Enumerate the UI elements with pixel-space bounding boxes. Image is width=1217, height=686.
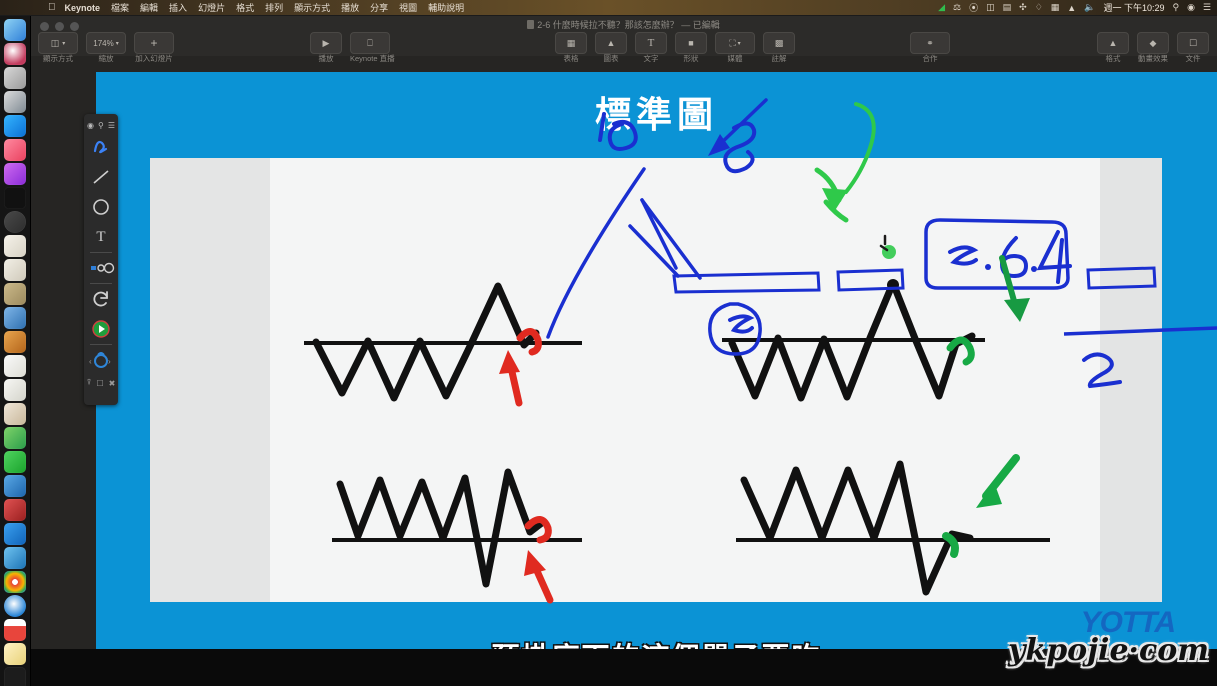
apple-icon[interactable]: : [48, 3, 56, 13]
insert-chart-button[interactable]: ▲: [595, 32, 627, 54]
siri-icon[interactable]: ◉: [1187, 2, 1195, 13]
ink-right-line: [1064, 328, 1217, 334]
screenshot-icon[interactable]: ☐: [96, 379, 103, 388]
ink-green-arrow-top: [817, 104, 896, 259]
bluetooth-icon[interactable]: ✣: [1019, 2, 1027, 13]
ink-number-2: [1084, 354, 1120, 386]
format-brush-icon: ▲: [1109, 38, 1118, 48]
dock-item-finder[interactable]: [4, 19, 26, 41]
dock-item-grid-app[interactable]: [4, 283, 26, 305]
battery-meter-icon[interactable]: ◫: [986, 2, 995, 13]
pointer-icon[interactable]: ⚲: [98, 121, 104, 130]
play-button[interactable]: ▶: [310, 32, 342, 54]
plus-icon: +: [150, 36, 157, 50]
dock-item-appstore[interactable]: [4, 115, 26, 137]
chevron-down-icon: ▾: [62, 40, 65, 47]
ink-annotation-layer: [96, 72, 1217, 686]
insert-comment-button[interactable]: ▩: [763, 32, 795, 54]
insert-media-button[interactable]: ⛶▾: [715, 32, 755, 54]
menu-app-name[interactable]: Keynote: [65, 3, 101, 13]
text-icon: T: [648, 37, 655, 49]
collaborate-icon: ⚭: [926, 38, 934, 49]
comment-icon: ▩: [775, 38, 784, 49]
dock-item-windows-app[interactable]: [4, 523, 26, 545]
svg-text:›: ›: [108, 357, 111, 366]
format-button-wrap: ▲ 格式: [1097, 32, 1129, 54]
dock-item-terminal[interactable]: [4, 667, 26, 686]
eject-icon[interactable]: ▲: [1067, 3, 1076, 13]
keynote-live-button-label: Keynote 直播: [350, 53, 390, 64]
toolbar-play-group: ▶ 播放 ⎕ Keynote 直播: [310, 32, 390, 54]
line-tool[interactable]: [84, 162, 118, 192]
menu-icon[interactable]: ☰: [108, 121, 115, 130]
collaborate-button-wrap: ⚭ 合作: [910, 32, 950, 54]
insert-media-label: 媒體: [715, 53, 755, 64]
menu-item-format[interactable]: 格式: [236, 1, 254, 14]
zoom-level-value: 174%: [93, 39, 113, 48]
view-button-label: 顯示方式: [38, 53, 78, 64]
collaborate-label: 合作: [910, 53, 950, 64]
refresh-icon: [91, 289, 111, 309]
dock-item-numbers[interactable]: [4, 427, 26, 449]
menu-item-edit[interactable]: 編輯: [140, 1, 158, 14]
insert-chart-label: 圖表: [595, 53, 627, 64]
insert-comment-button-wrap: ▩ 註解: [763, 32, 795, 54]
dock-item-screen-app-1[interactable]: [4, 475, 26, 497]
pen-tool[interactable]: [84, 132, 118, 162]
document-icon: [527, 20, 534, 29]
animate-icon: ◆: [1150, 38, 1157, 49]
zoom-button-label: 縮放: [86, 53, 126, 64]
shape-icon: ■: [688, 38, 693, 48]
table-icon: ▦: [567, 38, 576, 49]
toolbar-insert-group: ▦ 表格 ▲ 圖表 T 文字 ■ 形狀 ⛶▾ 媒體: [555, 32, 795, 54]
dock-item-calendar[interactable]: [4, 619, 26, 641]
dock-item-notes[interactable]: [4, 643, 26, 665]
collaborate-button[interactable]: ⚭: [910, 32, 950, 54]
dock-item-keynote-doc-2[interactable]: [4, 259, 26, 281]
shield-icon[interactable]: ♢: [1035, 2, 1043, 13]
keynote-live-button-wrap: ⎕ Keynote 直播: [350, 32, 390, 54]
site-watermark: ykpojie·com: [1008, 633, 1209, 668]
chart-icon: ▲: [607, 38, 616, 48]
dock-item-safari[interactable]: [4, 43, 26, 65]
window-titlebar: 2-6 什麼時候拉不聽？那該怎麼辦？ — 已編輯 ◫▾ 顯示方式 174%▾ 縮…: [30, 16, 1217, 56]
ink-order-box-2: [838, 270, 903, 290]
dock-item-chrome[interactable]: [4, 571, 26, 593]
add-slide-button-wrap: + 加入幻燈片: [134, 32, 174, 54]
toolbar-collab-group: ⚭ 合作: [910, 32, 950, 54]
reset-tool[interactable]: [84, 284, 118, 314]
record-icon[interactable]: ◉: [87, 121, 94, 130]
ink-number-10: [600, 114, 636, 149]
dock-item-appletv[interactable]: [4, 187, 26, 209]
menu-item-arrange[interactable]: 排列: [265, 1, 283, 14]
view-button-wrap: ◫▾ 顯示方式: [38, 32, 78, 54]
dock-item-wechat[interactable]: [4, 451, 26, 473]
dock-item-red-app[interactable]: [4, 499, 26, 521]
insert-shape-button-wrap: ■ 形狀: [675, 32, 707, 54]
close-x-icon[interactable]: ✖: [109, 379, 116, 388]
stroke-width-tool[interactable]: [84, 253, 118, 283]
menu-item-file[interactable]: 檔案: [111, 1, 129, 14]
keynote-live-button[interactable]: ⎕: [350, 32, 390, 54]
insert-shape-button[interactable]: ■: [675, 32, 707, 54]
zoom-button[interactable]: 174%▾: [86, 32, 126, 54]
animate-button-wrap: ◆ 動畫效果: [1137, 32, 1169, 54]
insert-text-button-wrap: T 文字: [635, 32, 667, 54]
menu-item-slide[interactable]: 幻燈片: [198, 1, 225, 14]
dock-item-obs[interactable]: [4, 211, 26, 233]
animate-button[interactable]: ◆: [1137, 32, 1169, 54]
dropbox-icon[interactable]: ◢: [938, 2, 945, 13]
palette-header: ◉ ⚲ ☰: [84, 118, 118, 132]
dock-item-doc-app-1[interactable]: [4, 355, 26, 377]
dock-item-keynote-doc-1[interactable]: [4, 235, 26, 257]
macos-menubar:  Keynote 檔案 編輯 插入 幻燈片 格式 排列 顯示方式 播放 分享 …: [0, 0, 1217, 15]
checkmark-circle-icon[interactable]: ⦿: [969, 1, 978, 14]
circle-icon: [91, 197, 111, 217]
line-icon: [91, 167, 111, 187]
media-icon: ⛶: [729, 38, 735, 49]
insert-chart-button-wrap: ▲ 圖表: [595, 32, 627, 54]
control-center-icon[interactable]: ☰: [1203, 2, 1211, 13]
history-icon[interactable]: ▤: [1003, 2, 1012, 13]
document-label: 文件: [1177, 53, 1209, 64]
text-tool[interactable]: T: [84, 222, 118, 252]
dots-sizes-icon: [89, 261, 113, 275]
dock-item-settings[interactable]: [4, 67, 26, 89]
dock-item-music[interactable]: [4, 139, 26, 161]
ink-order-box-1: [674, 273, 819, 292]
add-slide-button[interactable]: +: [134, 32, 174, 54]
insert-table-button[interactable]: ▦: [555, 32, 587, 54]
dock-item-doc-app-2[interactable]: [4, 379, 26, 401]
document-pane-icon: ☐: [1189, 38, 1197, 49]
menubar-status-area: ◢ ⚖ ⦿ ◫ ▤ ✣ ♢ ▦ ▲ 🔈 週一 下午10:29 ⚲ ◉ ☰: [938, 1, 1217, 14]
view-icon: ◫: [51, 38, 60, 49]
window-title: 2-6 什麼時候拉不聽？那該怎麼辦？ — 已編輯: [537, 20, 720, 30]
ink-number-5-circled: [710, 304, 760, 354]
macos-dock: [0, 16, 31, 686]
chevron-down-icon: ▾: [738, 40, 741, 47]
insert-table-label: 表格: [555, 53, 587, 64]
dock-item-remote-app[interactable]: [4, 547, 26, 569]
insert-text-button[interactable]: T: [635, 32, 667, 54]
chevron-down-icon: ▾: [116, 40, 119, 47]
ink-trend-line: [548, 169, 644, 337]
ink-number-8: [725, 123, 754, 171]
play-button-wrap: ▶ 播放: [310, 32, 342, 54]
scribble-icon: [91, 137, 111, 157]
dock-item-safari-2[interactable]: [4, 595, 26, 617]
play-icon: ▶: [323, 38, 330, 49]
ellipse-tool[interactable]: [84, 192, 118, 222]
dock-item-orange-app[interactable]: [4, 331, 26, 353]
insert-shape-label: 形狀: [675, 53, 707, 64]
menu-item-window[interactable]: 視圖: [399, 1, 417, 14]
insert-text-label: 文字: [635, 53, 667, 64]
window-title-row: 2-6 什麼時候拉不聽？那該怎麼辦？ — 已編輯: [30, 18, 1217, 31]
menu-item-share[interactable]: 分享: [370, 1, 388, 14]
menubar-clock[interactable]: 週一 下午10:29: [1103, 1, 1164, 14]
format-label: 格式: [1097, 53, 1129, 64]
insert-comment-label: 註解: [763, 53, 795, 64]
menu-item-view[interactable]: 顯示方式: [294, 1, 330, 14]
menu-item-insert[interactable]: 插入: [169, 1, 187, 14]
document-button-wrap: ☐ 文件: [1177, 32, 1209, 54]
screen:  Keynote 檔案 編輯 插入 幻燈片 格式 排列 顯示方式 播放 分享 …: [0, 0, 1217, 686]
dock-item-mail[interactable]: [4, 91, 26, 113]
toolbar-left-group: ◫▾ 顯示方式 174%▾ 縮放 + 加入幻燈片: [38, 32, 174, 54]
play-circle-icon: [91, 319, 111, 339]
play-button-label: 播放: [310, 53, 342, 64]
animate-label: 動畫效果: [1137, 53, 1169, 64]
view-button[interactable]: ◫▾: [38, 32, 78, 54]
dock-item-photo-app[interactable]: [4, 307, 26, 329]
text-T-icon: T: [96, 229, 105, 246]
dock-item-doc-app-3[interactable]: [4, 403, 26, 425]
toolbar-right-group: ▲ 格式 ◆ 動畫效果 ☐ 文件: [1097, 32, 1209, 54]
document-button[interactable]: ☐: [1177, 32, 1209, 54]
color-tool[interactable]: ‹ ›: [84, 345, 118, 375]
play-tool[interactable]: [84, 314, 118, 344]
input-source-icon[interactable]: ▦: [1051, 2, 1060, 13]
add-slide-button-label: 加入幻燈片: [134, 53, 174, 64]
ink-order-box-right: [1088, 268, 1155, 288]
format-button[interactable]: ▲: [1097, 32, 1129, 54]
palette-footer: ⍒ ☐ ✖: [84, 375, 118, 391]
ink-number-564: [950, 232, 1070, 282]
insert-table-button-wrap: ▦ 表格: [555, 32, 587, 54]
color-wheel-icon: ‹ ›: [88, 350, 114, 370]
dock-item-podcasts[interactable]: [4, 163, 26, 185]
volume-icon[interactable]: 🔈: [1084, 2, 1095, 13]
slide-canvas[interactable]: 標準圖: [96, 72, 1217, 686]
keynote-window: 2-6 什麼時候拉不聽？那該怎麼辦？ — 已編輯 ◫▾ 顯示方式 174%▾ 縮…: [30, 16, 1217, 686]
annotation-palette[interactable]: ◉ ⚲ ☰ T: [84, 114, 118, 405]
insert-media-button-wrap: ⛶▾ 媒體: [715, 32, 755, 54]
menu-item-help[interactable]: 輔助說明: [428, 1, 464, 14]
eraser-icon[interactable]: ⍒: [87, 378, 92, 388]
svg-text:‹: ‹: [89, 357, 92, 366]
ink-triangle: [630, 200, 700, 278]
menu-item-play[interactable]: 播放: [341, 1, 359, 14]
search-icon[interactable]: ⚲: [1172, 2, 1179, 13]
live-icon: ⎕: [367, 38, 372, 49]
pin-icon[interactable]: ⚖: [953, 2, 961, 13]
zoom-button-wrap: 174%▾ 縮放: [86, 32, 126, 54]
